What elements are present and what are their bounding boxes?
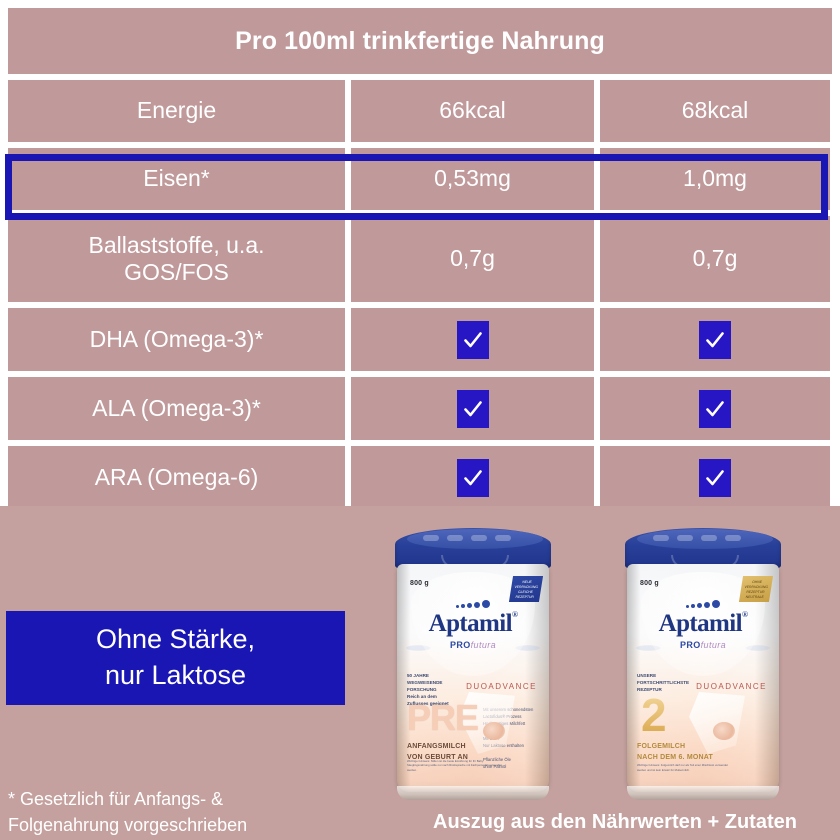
table-inner: Pro 100ml trinkfertige Nahrung Energie 6… [8,8,832,502]
can-corner-tag: OHNE VERPACKUNG REZEPTUR NEUTRALE [739,576,773,602]
claim-box: Ohne Stärke, nur Laktose [6,611,345,705]
row-value-pre-ala [351,377,594,440]
row-value-pre-ballaststoffe: 0,7g [351,216,594,302]
table-row: Ballaststoffe, u.a. GOS/FOS 0,7g 0,7g [8,216,832,302]
claim-text: Ohne Stärke, nur Laktose [96,622,255,693]
row-value-pre-dha [351,308,594,371]
can-lid-groove [495,535,511,541]
can-lid-groove [447,535,463,541]
registered-icon: ® [742,610,747,619]
checkmark-icon [457,390,489,428]
row-value-two-ballaststoffe: 0,7g [600,216,830,302]
sub-brand-futura: futura [701,640,726,650]
can-weight: 800 g [640,580,659,587]
caption-text: Auszug aus den Nährwerten + Zutaten [390,811,840,834]
can-body: 800 g NEUE VERPACKUNG GLEICHE REZEPTUR A… [397,564,549,792]
sub-brand-futura: futura [471,640,496,650]
can-lid-groove [701,535,717,541]
infographic-page: Pro 100ml trinkfertige Nahrung Energie 6… [0,0,840,840]
row-label-eisen: Eisen* [8,148,345,210]
row-value-two-ala [600,377,830,440]
can-lid-groove [471,535,487,541]
brand-name-text: Aptamil [659,610,742,637]
footnote-text: * Gesetzlich für Anfangs- & Folgenahrung… [8,786,358,838]
brand-dots-icon [456,600,490,608]
row-value-pre-ara [351,446,594,509]
row-label-ala: ALA (Omega-3)* [8,377,345,440]
variant-label: 2 [641,692,666,738]
variant-sublabel: FOLGEMILCH NACH DEM 6. MONAT [637,742,713,763]
row-label-energie: Energie [8,80,345,142]
checkmark-icon [699,459,731,497]
can-fineprint: Wichtiger Hinweis: Folgemilch darf nur a… [637,763,737,772]
scoop-powder-graphic [713,722,735,740]
nutrition-table: Pro 100ml trinkfertige Nahrung Energie 6… [0,0,840,506]
can-lid-groove [653,535,669,541]
row-label-dha: DHA (Omega-3)* [8,308,345,371]
brand-name: Aptamil® [627,610,779,638]
table-title: Pro 100ml trinkfertige Nahrung [235,27,605,56]
sub-brand-pro: PRO [680,640,701,650]
product-can-stage2: 800 g OHNE VERPACKUNG REZEPTUR NEUTRALE … [623,528,783,800]
table-row-highlighted: Eisen* 0,53mg 1,0mg [8,148,832,210]
can-fineprint: Wichtiger Hinweis: Stillen ist die beste… [407,759,507,772]
row-value-pre-eisen: 0,53mg [351,148,594,210]
lower-section: Ohne Stärke, nur Laktose * Gesetzlich fü… [0,506,840,840]
sub-brand: PROfutura [397,640,549,650]
scoop-powder-graphic [483,722,505,740]
can-lid-groove [725,535,741,541]
can-lid-groove [423,535,439,541]
sub-brand-pro: PRO [450,640,471,650]
checkmark-icon [457,459,489,497]
table-row: ALA (Omega-3)* [8,377,832,440]
table-title-row: Pro 100ml trinkfertige Nahrung [8,8,832,74]
can-weight: 800 g [410,580,429,587]
can-base [627,786,779,800]
checkmark-icon [699,390,731,428]
row-value-two-energie: 68kcal [600,80,830,142]
table-row: DHA (Omega-3)* [8,308,832,371]
product-can-pre: 800 g NEUE VERPACKUNG GLEICHE REZEPTUR A… [393,528,553,800]
row-label-ballaststoffe: Ballaststoffe, u.a. GOS/FOS [8,216,345,302]
can-base [397,786,549,800]
brand-dots-icon [686,600,720,608]
brand-name: Aptamil® [397,610,549,638]
row-value-two-ara [600,446,830,509]
row-label-ara: ARA (Omega-6) [8,446,345,509]
can-body: 800 g OHNE VERPACKUNG REZEPTUR NEUTRALE … [627,564,779,792]
table-row: ARA (Omega-6) [8,446,832,509]
table-row: Energie 66kcal 68kcal [8,80,832,142]
checkmark-icon [699,321,731,359]
row-value-two-dha [600,308,830,371]
row-value-pre-energie: 66kcal [351,80,594,142]
sub-brand: PROfutura [627,640,779,650]
brand-name-text: Aptamil [429,610,512,637]
can-corner-tag: NEUE VERPACKUNG GLEICHE REZEPTUR [509,576,543,602]
variant-label: PRE [407,700,478,736]
can-lid-groove [677,535,693,541]
duoadvance-label: DUOADVANCE [466,682,537,691]
checkmark-icon [457,321,489,359]
duoadvance-label: DUOADVANCE [696,682,767,691]
registered-icon: ® [512,610,517,619]
row-value-two-eisen: 1,0mg [600,148,830,210]
